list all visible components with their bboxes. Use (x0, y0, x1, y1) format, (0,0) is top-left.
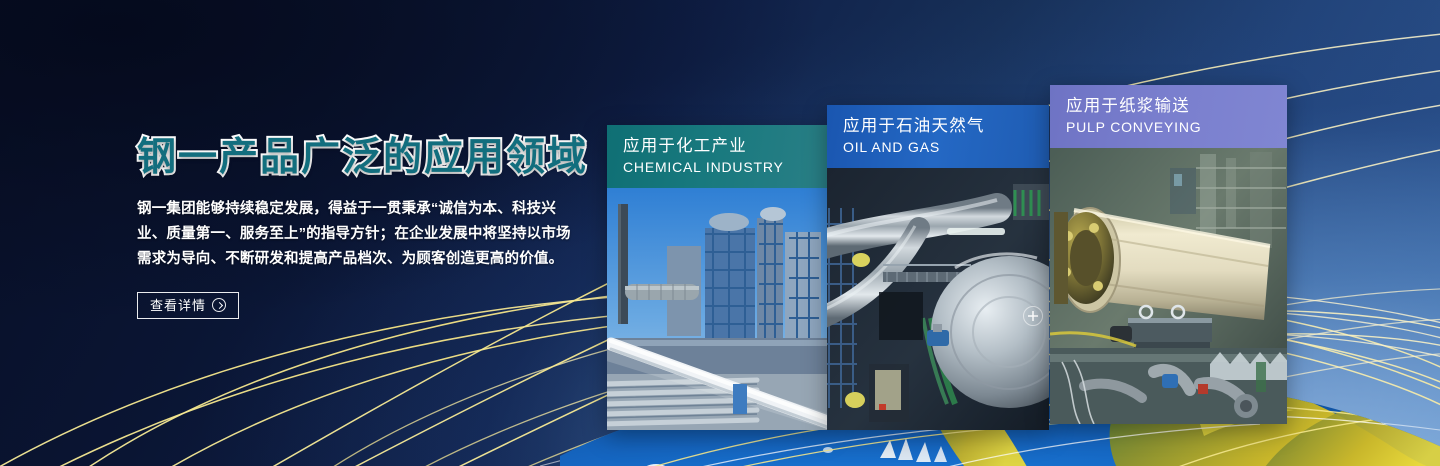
card-title-en: CHEMICAL INDUSTRY (623, 158, 815, 177)
oil-gas-pipes-photo (827, 168, 1049, 430)
card-pulp-conveying[interactable]: 应用于纸浆输送 PULP CONVEYING (1050, 85, 1287, 424)
view-details-label: 查看详情 (150, 299, 206, 312)
card-header-pulp: 应用于纸浆输送 PULP CONVEYING (1050, 85, 1287, 148)
card-header-chemical: 应用于化工产业 CHEMICAL INDUSTRY (607, 125, 829, 188)
plus-circle-icon[interactable] (1023, 306, 1043, 326)
hero-banner: 钢一产品广泛的应用领域 钢一集团能够持续稳定发展，得益于一贯秉承“诚信为本、科技… (0, 0, 1440, 466)
page-title: 钢一产品广泛的应用领域 (137, 135, 607, 181)
card-oil-and-gas[interactable]: 应用于石油天然气 OIL AND GAS (827, 105, 1049, 430)
arrow-right-circle-icon (212, 298, 226, 312)
card-title-en: PULP CONVEYING (1066, 118, 1273, 137)
card-header-oilgas: 应用于石油天然气 OIL AND GAS (827, 105, 1049, 168)
banner-copy: 钢一产品广泛的应用领域 钢一集团能够持续稳定发展，得益于一贯秉承“诚信为本、科技… (137, 135, 607, 319)
card-chemical-industry[interactable]: 应用于化工产业 CHEMICAL INDUSTRY (607, 125, 829, 430)
banner-description: 钢一集团能够持续稳定发展，得益于一贯秉承“诚信为本、科技兴业、质量第一、服务至上… (137, 197, 579, 272)
view-details-button[interactable]: 查看详情 (137, 292, 239, 319)
card-title-en: OIL AND GAS (843, 138, 1035, 157)
chemical-plant-photo (607, 188, 829, 430)
card-title-cn: 应用于化工产业 (623, 135, 815, 157)
card-title-cn: 应用于石油天然气 (843, 115, 1035, 137)
pulp-roller-photo (1050, 148, 1287, 424)
card-title-cn: 应用于纸浆输送 (1066, 95, 1273, 117)
